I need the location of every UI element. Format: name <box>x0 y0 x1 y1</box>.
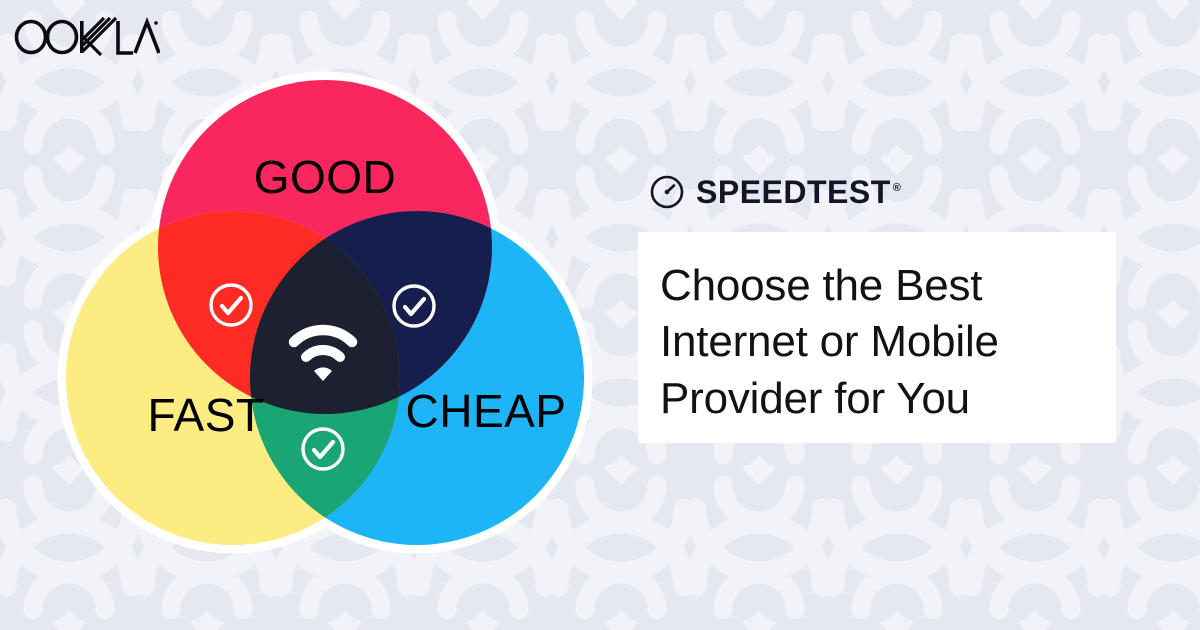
headline-line-2: Internet or Mobile <box>660 317 999 366</box>
speedtest-logo: SPEEDTEST® <box>650 170 1118 214</box>
headline-line-1: Choose the Best <box>660 261 982 310</box>
ookla-logo <box>14 16 160 58</box>
speedtest-promo-graphic: GOOD FAST CHEAP <box>0 0 1200 630</box>
right-content-column: SPEEDTEST® Choose the Best Internet or M… <box>638 170 1118 443</box>
venn-label-good: GOOD <box>254 151 397 203</box>
venn-label-cheap: CHEAP <box>406 385 567 437</box>
page-headline: Choose the Best Internet or Mobile Provi… <box>660 258 1092 427</box>
speedtest-wordmark: SPEEDTEST® <box>696 176 901 208</box>
registered-mark-icon <box>154 21 158 25</box>
venn-diagram: GOOD FAST CHEAP <box>40 55 610 565</box>
headline-card: Choose the Best Internet or Mobile Provi… <box>638 232 1116 443</box>
headline-line-3: Provider for You <box>660 374 970 423</box>
registered-mark: ® <box>893 182 902 194</box>
venn-label-fast: FAST <box>147 389 264 441</box>
speedtest-wordmark-text: SPEEDTEST <box>696 174 891 210</box>
speedometer-icon <box>650 175 684 209</box>
